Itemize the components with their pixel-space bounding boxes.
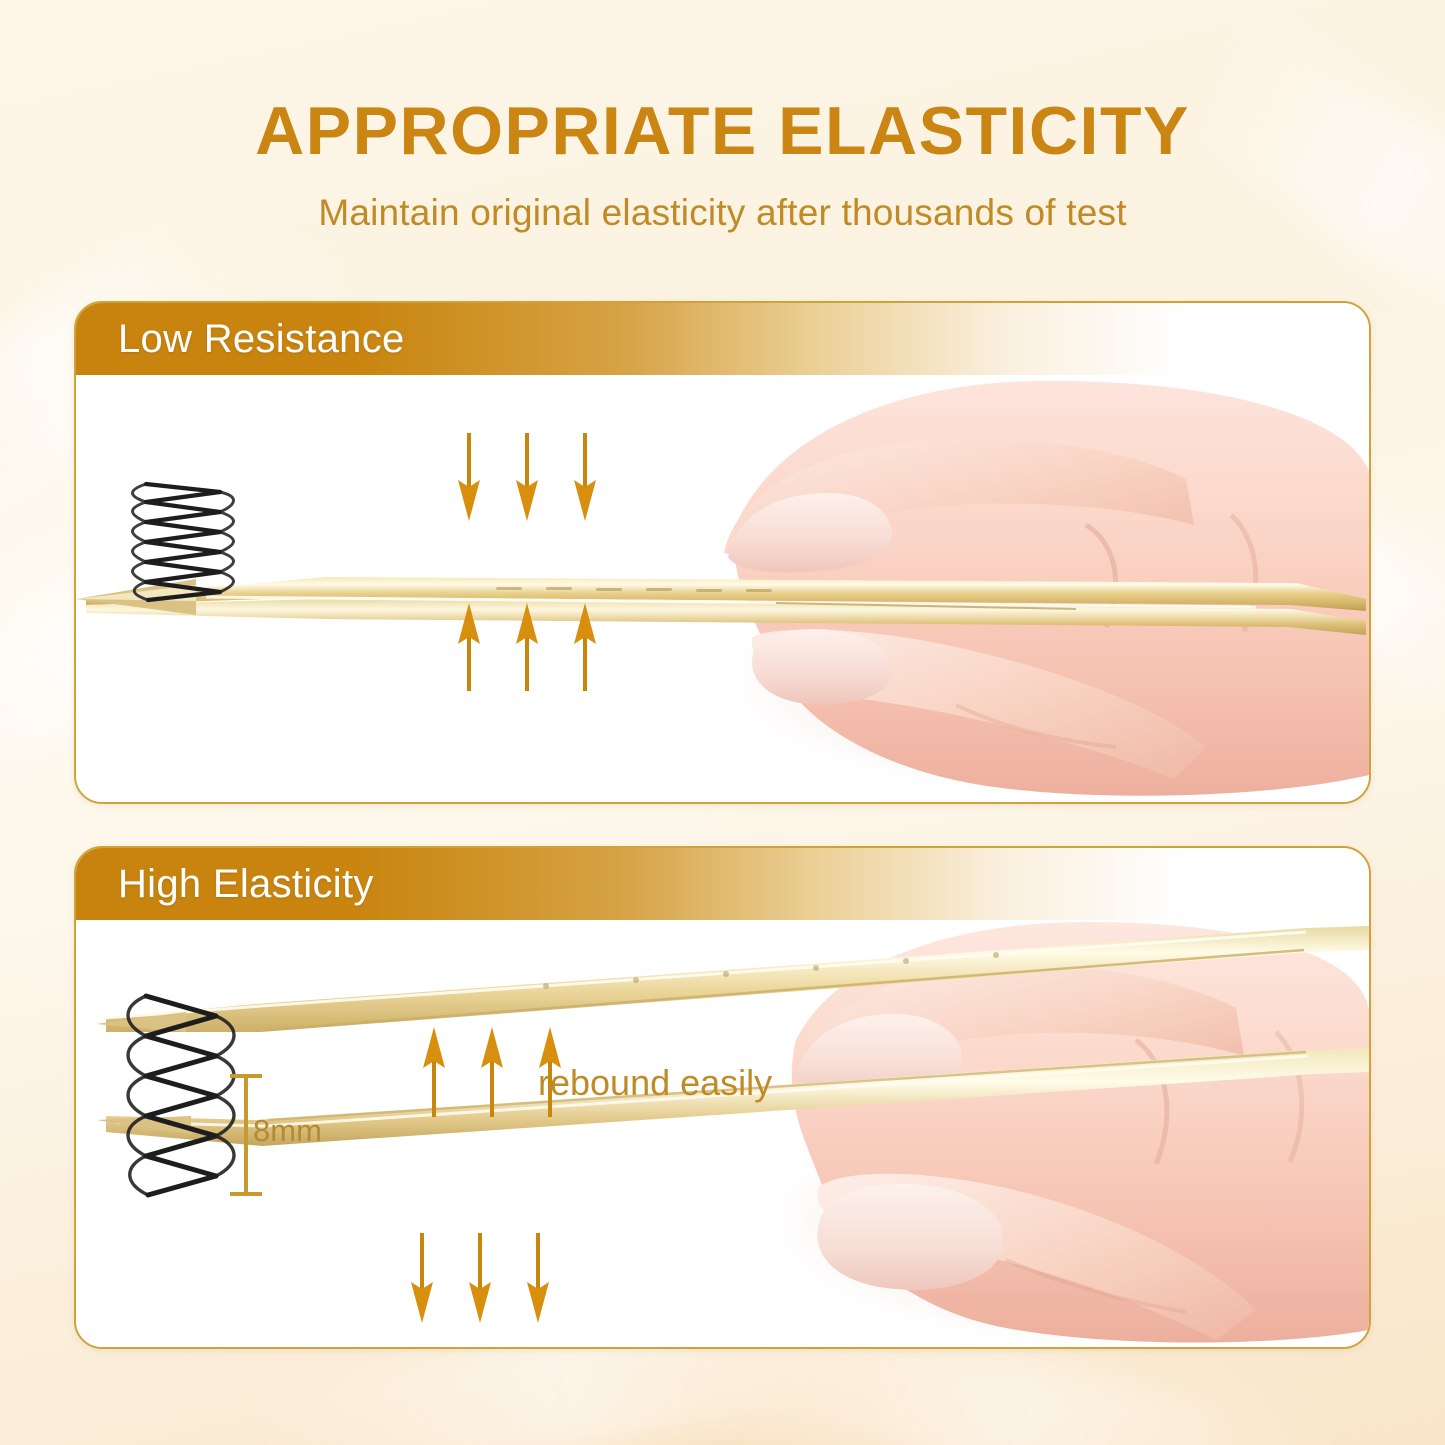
panel-high-elasticity: High Elasticity (74, 846, 1371, 1349)
panel-header-label: Low Resistance (76, 317, 405, 362)
arrow-down-icon (456, 433, 482, 523)
arrow-down-icon (514, 433, 540, 523)
arrow-down-icon (525, 1233, 551, 1325)
rebound-easily-label: rebound easily (538, 1062, 772, 1104)
arrow-group-down-high-elasticity (409, 1233, 551, 1325)
panel-body-high-elasticity: 8mm rebound easily (76, 920, 1369, 1347)
infographic-canvas: APPROPRIATE ELASTICITY Maintain original… (0, 0, 1445, 1445)
panel-low-resistance: Low Resistance (74, 301, 1371, 804)
arrow-up-icon (572, 601, 598, 691)
arrow-up-icon (479, 1025, 505, 1117)
page-subtitle: Maintain original elasticity after thous… (0, 192, 1445, 234)
arrow-group-down-low-resistance (456, 433, 598, 523)
dimension-label-8mm: 8mm (253, 1113, 322, 1149)
arrow-up-icon (456, 601, 482, 691)
arrow-down-icon (572, 433, 598, 523)
arrow-down-icon (409, 1233, 435, 1325)
arrow-group-up-low-resistance (456, 601, 598, 691)
arrow-up-icon (421, 1025, 447, 1117)
panel-header-low-resistance: Low Resistance (76, 303, 1369, 375)
panel-header-high-elasticity: High Elasticity (76, 848, 1369, 920)
panel-header-label: High Elasticity (76, 862, 374, 907)
photo-hand-closed-tweezers (76, 375, 1369, 802)
extended-coil-spring-icon (116, 988, 246, 1203)
arrow-up-icon (514, 601, 540, 691)
compressed-coil-spring-icon (124, 476, 244, 606)
page-title: APPROPRIATE ELASTICITY (0, 96, 1445, 167)
arrow-down-icon (467, 1233, 493, 1325)
panel-body-low-resistance (76, 375, 1369, 802)
